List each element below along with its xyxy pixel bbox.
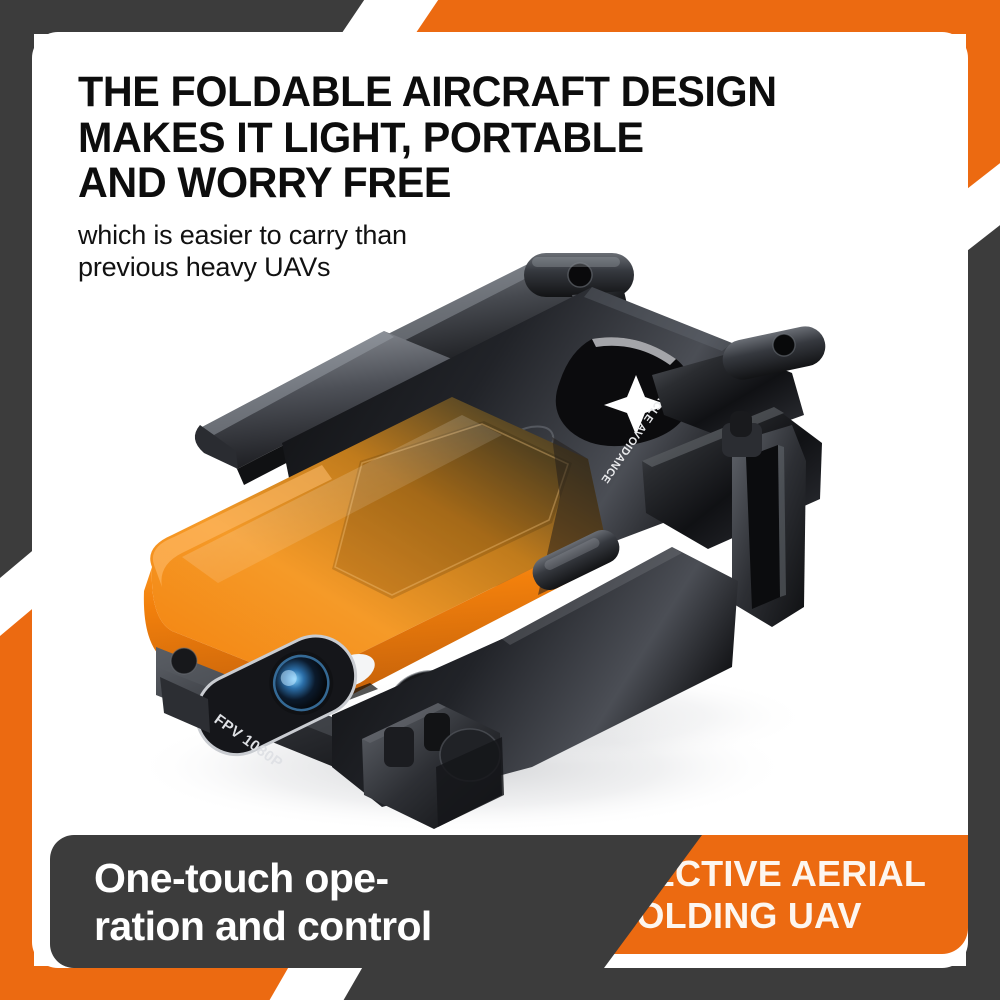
headline-line-2: MAKES IT LIGHT, PORTABLE [78, 116, 904, 162]
border-band-right-dark [966, 196, 1000, 1000]
caption-left-line-2: ration and control [94, 903, 654, 951]
border-band-top-orange [375, 0, 1000, 34]
border-band-bottom-dark [300, 966, 1000, 1000]
border-band-left-dark [0, 0, 34, 610]
caption-left-line-1: One-touch ope- [94, 855, 654, 903]
headline-line-3: AND WORRY FREE [78, 161, 904, 207]
product-image: OBSTACLE AVOIDANCE [32, 247, 968, 857]
caption-left-text: One-touch ope- ration and control [94, 855, 654, 950]
poster-root: THE FOLDABLE AIRCRAFT DESIGN MAKES IT LI… [0, 0, 1000, 1000]
border-band-left-orange [0, 578, 34, 1000]
headline-line-1: THE FOLDABLE AIRCRAFT DESIGN [78, 70, 904, 116]
content-card: THE FOLDABLE AIRCRAFT DESIGN MAKES IT LI… [32, 32, 968, 968]
motor-hub-rear [524, 253, 634, 297]
